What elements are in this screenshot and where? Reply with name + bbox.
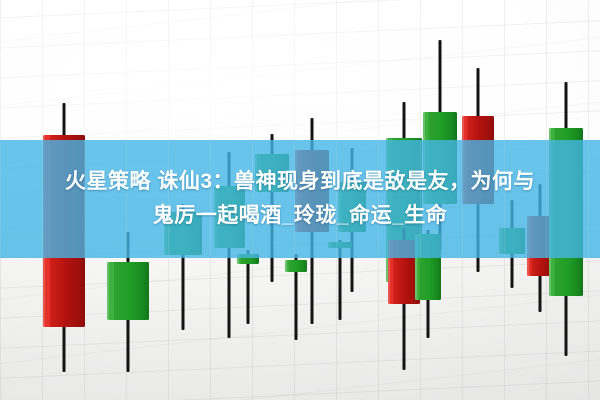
candlestick-body-up (107, 262, 149, 320)
title-overlay-band (0, 140, 600, 258)
candlestick-body-up (285, 260, 307, 272)
overlay-grid (0, 140, 600, 258)
banner-image: 火星策略 诛仙3：兽神现身到底是敌是友，为何与 鬼厉一起喝酒_玲珑_命运_生命 (0, 0, 600, 400)
